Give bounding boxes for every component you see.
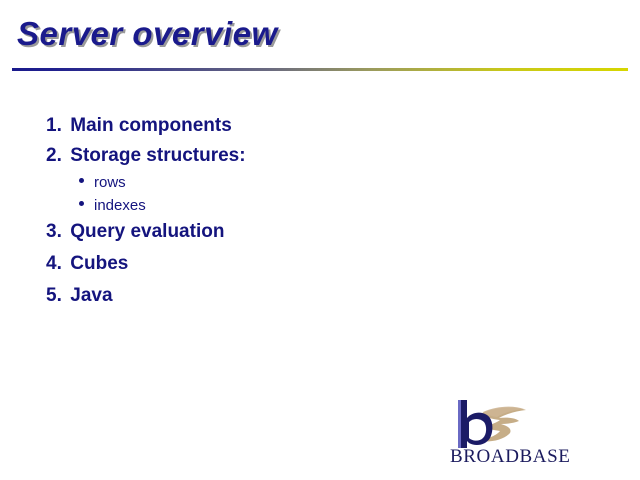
list-item-number: 2. bbox=[46, 146, 65, 165]
list-item-label: Cubes bbox=[70, 253, 128, 274]
list-item: 1. Main components bbox=[46, 116, 566, 135]
title-divider-rule bbox=[12, 68, 628, 71]
list-item-label: Java bbox=[70, 285, 112, 306]
list-item-number: 1. bbox=[46, 116, 65, 135]
list-item-label: Query evaluation bbox=[70, 221, 224, 242]
presentation-slide: Server overview 1. Main components 2. St… bbox=[0, 0, 640, 480]
bullet-dot-icon bbox=[79, 178, 84, 183]
sub-list-item-label: rows bbox=[94, 174, 126, 191]
slide-body-list: 1. Main components 2. Storage structures… bbox=[46, 116, 566, 305]
broadbase-logo: BROADBASE bbox=[450, 398, 590, 470]
list-item: 5. Java bbox=[46, 286, 566, 305]
sub-bullet-list: rows indexes bbox=[46, 175, 566, 213]
list-item: 2. Storage structures: bbox=[46, 146, 566, 165]
slide-title: Server overview bbox=[17, 17, 278, 52]
list-item-number: 5. bbox=[46, 286, 65, 305]
list-item: 4. Cubes bbox=[46, 254, 566, 273]
list-item-number: 3. bbox=[46, 222, 65, 241]
sub-list-item: indexes bbox=[46, 198, 566, 213]
bullet-dot-icon bbox=[79, 201, 84, 206]
list-item: 3. Query evaluation bbox=[46, 222, 566, 241]
list-item-label: Main components bbox=[70, 115, 232, 136]
sub-list-item-label: indexes bbox=[94, 197, 146, 214]
broadbase-wordmark: BROADBASE bbox=[450, 446, 570, 468]
logo-letter-b-icon bbox=[458, 400, 492, 448]
list-item-label: Storage structures: bbox=[70, 145, 245, 166]
sub-list-item: rows bbox=[46, 175, 566, 190]
list-item-number: 4. bbox=[46, 254, 65, 273]
broadbase-logo-mark-icon bbox=[450, 398, 540, 450]
